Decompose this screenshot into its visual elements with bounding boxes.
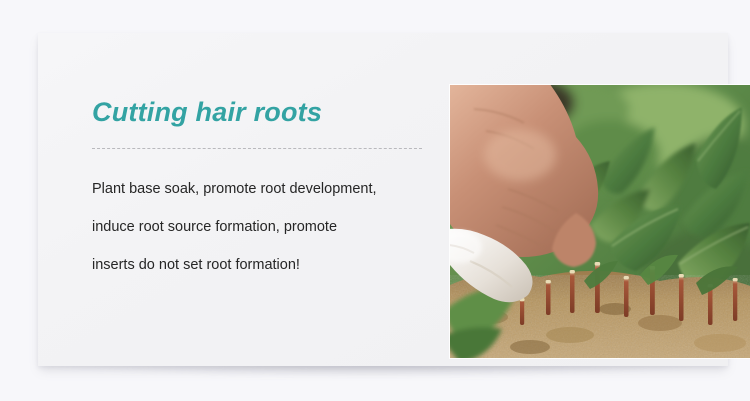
promo-card: Cutting hair roots Plant base soak, prom… [38,33,728,366]
title-divider [92,148,422,149]
cutting-planting-photo [450,85,750,358]
promo-description-line-2: induce root source formation, promote [92,208,428,246]
promo-photo-frame [450,85,750,358]
promo-description-line-3: inserts do not set root formation! [92,246,428,284]
promo-banner: Cutting hair roots Plant base soak, prom… [0,0,750,401]
promo-description: Plant base soak, promote root developmen… [92,170,428,284]
promo-title: Cutting hair roots [92,95,428,129]
promo-text-column: Cutting hair roots Plant base soak, prom… [92,95,428,284]
promo-description-line-1: Plant base soak, promote root developmen… [92,170,428,208]
